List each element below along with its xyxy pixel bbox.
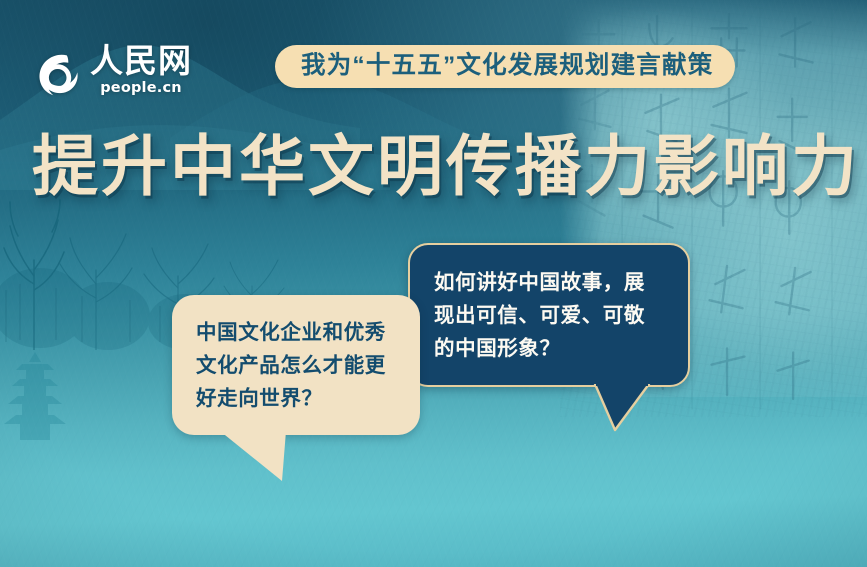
people-cn-logo[interactable]: 人民网 people.cn	[34, 46, 192, 97]
logo-english-name: people.cn	[100, 81, 182, 96]
question-bubble-dark-text: 如何讲好中国故事，展现出可信、可爱、可敬的中国形象？	[434, 266, 664, 366]
question-bubble-dark[interactable]: 如何讲好中国故事，展现出可信、可爱、可敬的中国形象？	[408, 243, 690, 387]
logo-chinese-name: 人民网	[90, 46, 192, 78]
page-title: 提升中华文明传播力影响力	[32, 133, 860, 203]
campaign-banner-label: 我为“十五五”文化发展规划建言献策	[301, 54, 713, 79]
pagoda-silhouette	[0, 350, 70, 445]
question-bubble-light-text: 中国文化企业和优秀文化产品怎么才能更好走向世界？	[196, 316, 396, 416]
question-bubble-light[interactable]: 中国文化企业和优秀文化产品怎么才能更好走向世界？	[172, 295, 420, 435]
poster-canvas: 人民网 people.cn 我为“十五五”文化发展规划建言献策 提升中华文明传播…	[0, 0, 867, 567]
logo-wordmark: 人民网 people.cn	[90, 46, 192, 96]
speech-tail-light-icon	[220, 431, 292, 483]
question-bubble-dark-body: 如何讲好中国故事，展现出可信、可爱、可敬的中国形象？	[408, 243, 690, 387]
people-cn-globe-icon	[34, 50, 81, 97]
speech-tail-dark-icon	[593, 384, 651, 432]
question-bubble-light-body: 中国文化企业和优秀文化产品怎么才能更好走向世界？	[172, 295, 420, 435]
campaign-banner-pill[interactable]: 我为“十五五”文化发展规划建言献策	[275, 45, 735, 88]
